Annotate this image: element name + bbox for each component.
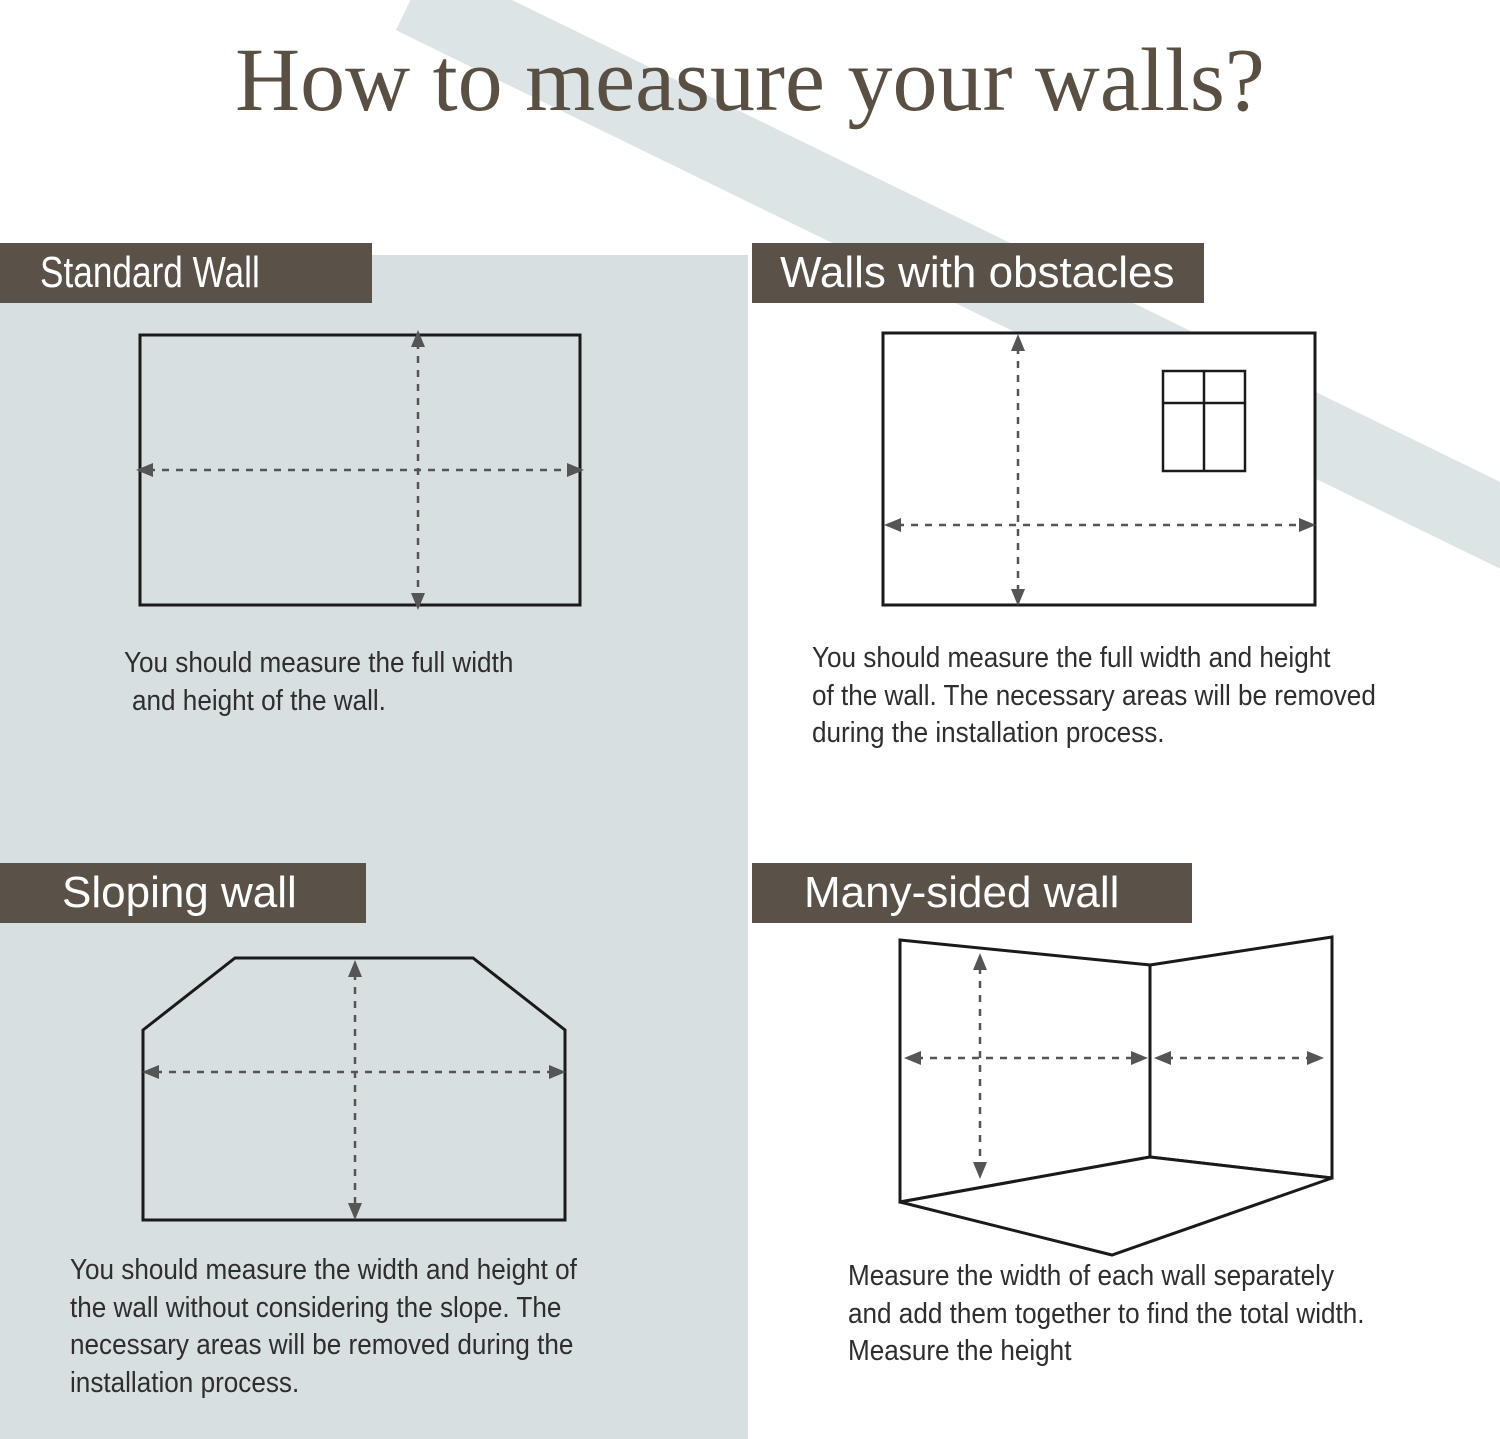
section-header-standard-wall-label: Standard Wall: [40, 251, 260, 295]
caption-obstacles-line3: during the installation process.: [812, 715, 1406, 753]
caption-sloping-line4: installation process.: [70, 1365, 628, 1403]
page-title: How to measure your walls?: [0, 34, 1500, 129]
section-header-sloping-wall: Sloping wall: [0, 863, 366, 923]
caption-many-sided-line1: Measure the width of each wall separatel…: [848, 1258, 1406, 1296]
section-header-sloping-wall-label: Sloping wall: [62, 871, 297, 915]
section-header-many-sided-wall-label: Many-sided wall: [804, 871, 1119, 915]
caption-many-sided-wall: Measure the width of each wall separatel…: [848, 1258, 1468, 1371]
section-header-walls-with-obstacles-label: Walls with obstacles: [780, 251, 1175, 295]
diagram-wall-with-obstacles: [875, 325, 1325, 615]
infographic-canvas: How to measure your walls? Standard Wall…: [0, 0, 1500, 1439]
diagram-many-sided-wall: [880, 925, 1350, 1265]
section-header-many-sided-wall: Many-sided wall: [752, 863, 1192, 923]
diagram-standard-wall: [120, 320, 600, 620]
caption-many-sided-line3: Measure the height: [848, 1333, 1406, 1371]
section-header-walls-with-obstacles: Walls with obstacles: [752, 243, 1204, 303]
caption-obstacles-line1: You should measure the full width and he…: [812, 640, 1406, 678]
caption-sloping-wall: You should measure the width and height …: [70, 1252, 690, 1403]
caption-many-sided-line2: and add them together to find the total …: [848, 1296, 1406, 1334]
diagram-sloping-wall: [115, 935, 605, 1245]
section-header-standard-wall: Standard Wall: [0, 243, 372, 303]
caption-standard-wall: You should measure the full width and he…: [124, 645, 644, 720]
caption-standard-wall-line1: You should measure the full width: [124, 645, 592, 683]
caption-sloping-line1: You should measure the width and height …: [70, 1252, 628, 1290]
caption-obstacles-line2: of the wall. The necessary areas will be…: [812, 678, 1406, 716]
window-obstacle: [1163, 371, 1245, 471]
caption-walls-with-obstacles: You should measure the full width and he…: [812, 640, 1472, 753]
caption-sloping-line3: necessary areas will be removed during t…: [70, 1327, 628, 1365]
caption-standard-wall-line2: and height of the wall.: [132, 683, 593, 721]
caption-sloping-line2: the wall without considering the slope. …: [70, 1290, 628, 1328]
